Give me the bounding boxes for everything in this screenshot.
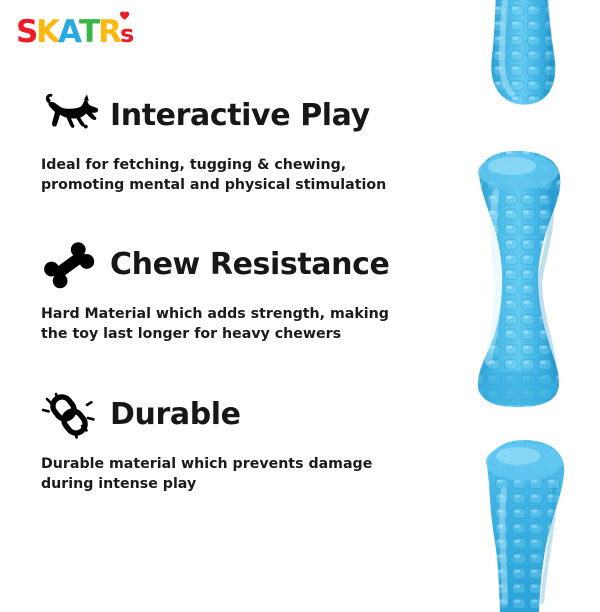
feature-interactive-play: Interactive Play Ideal for fetching, tug…: [38, 88, 398, 195]
dog-toy-photo-bottom: [460, 432, 580, 612]
heart-icon: [120, 12, 129, 20]
dog-toy-photo-top: [458, 0, 578, 144]
dog-toy-photo-middle: [452, 148, 584, 410]
feature-header: Durable: [38, 387, 398, 443]
brand-logo-svg: S K A T R s: [16, 8, 146, 52]
logo-letter-r: R: [98, 14, 122, 50]
logo-letter-s1: S: [16, 14, 37, 50]
feature-title: Durable: [110, 400, 241, 430]
feature-description: Hard Material which adds strength, makin…: [41, 304, 397, 344]
feature-header: Chew Resistance: [38, 237, 398, 293]
chain-link-icon: [38, 389, 100, 441]
feature-description: Ideal for fetching, tugging & chewing, p…: [41, 155, 397, 195]
feature-description: Durable material which prevents damage d…: [41, 454, 397, 494]
brand-logo: S K A T R s: [16, 8, 146, 52]
feature-header: Interactive Play: [38, 88, 398, 144]
feature-durable: Durable Durable material which prevents …: [38, 387, 398, 494]
feature-list: Interactive Play Ideal for fetching, tug…: [38, 88, 398, 494]
feature-title: Interactive Play: [110, 101, 370, 131]
feature-chew-resistance: Chew Resistance Hard Material which adds…: [38, 237, 398, 344]
logo-letter-t: T: [79, 14, 100, 50]
feature-title: Chew Resistance: [110, 250, 389, 280]
dog-icon: [38, 90, 100, 142]
product-image-column: [430, 0, 600, 600]
logo-letter-s2: s: [120, 20, 134, 48]
bone-icon: [38, 239, 100, 291]
